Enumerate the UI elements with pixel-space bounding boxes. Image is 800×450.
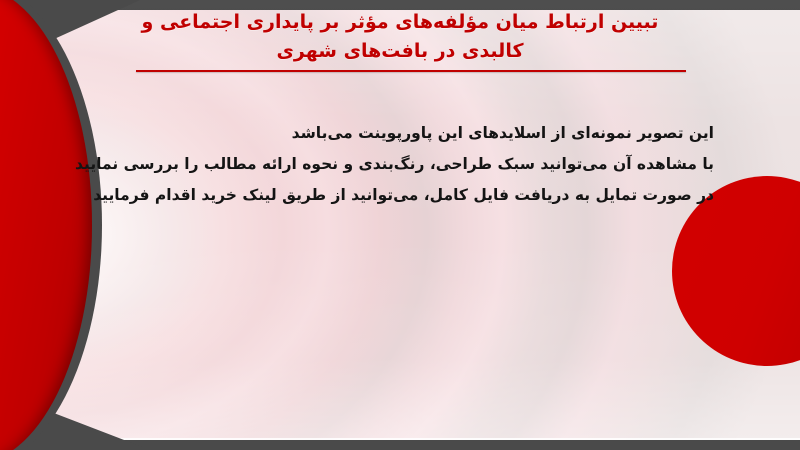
body-line-2: با مشاهده آن می‌توانید سبک طراحی، رنگ‌بن…: [110, 149, 714, 180]
body-line-1: این تصویر نمونه‌ای از اسلایدهای این پاور…: [110, 118, 714, 149]
slide-content-panel: [0, 0, 800, 450]
title-line-1: تبیین ارتباط میان مؤلفه‌های مؤثر بر پاید…: [0, 8, 800, 37]
presentation-slide: تبیین ارتباط میان مؤلفه‌های مؤثر بر پاید…: [0, 0, 800, 450]
panel-bottom-edge: [58, 438, 800, 440]
left-leaf-inner-shadow: [0, 0, 92, 450]
title-underline-rule: [136, 70, 686, 72]
body-line-3: در صورت تمایل به دریافت فایل کامل، می‌تو…: [110, 180, 714, 211]
slide-body-text: این تصویر نمونه‌ای از اسلایدهای این پاور…: [0, 118, 800, 211]
title-line-2: کالبدی در بافت‌های شهری: [0, 37, 800, 66]
left-red-leaf-shape: [0, 0, 102, 450]
slide-title: تبیین ارتباط میان مؤلفه‌های مؤثر بر پاید…: [0, 8, 800, 66]
